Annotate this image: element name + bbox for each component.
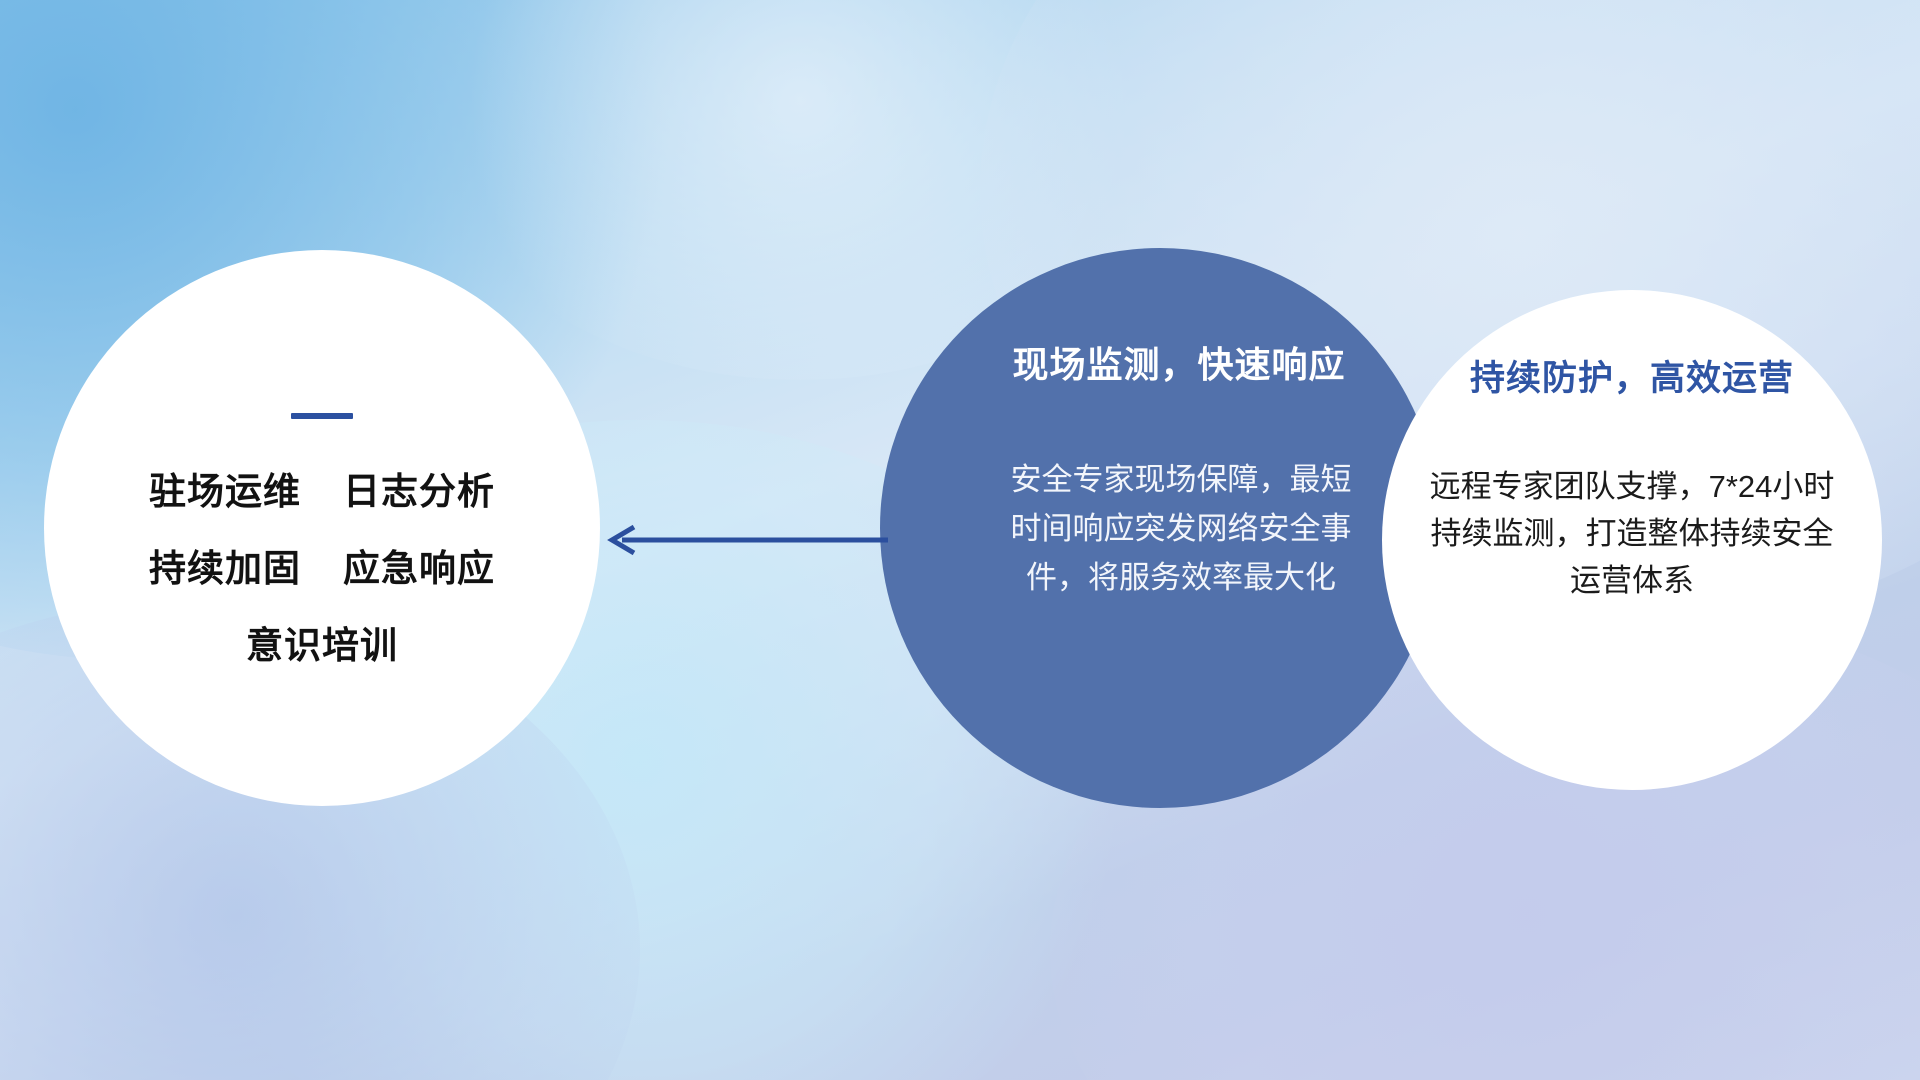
slide-canvas: 驻场运维 日志分析 持续加固 应急响应 意识培训 现场监测，快速响应 安全专家现…: [0, 0, 1920, 1080]
keyword-item: 驻场运维: [149, 473, 301, 510]
keyword-item: 持续加固: [149, 550, 301, 587]
keyword-row: 意识培训: [246, 627, 398, 664]
right-circle-content: 持续防护，高效运营 远程专家团队支撑，7*24小时持续监测，打造整体持续安全运营…: [1382, 290, 1882, 790]
onsite-monitoring-circle: 现场监测，快速响应 安全专家现场保障，最短时间响应突发网络安全事件，将服务效率最…: [880, 248, 1440, 808]
flow-arrow: [600, 520, 890, 560]
left-circle-content: 驻场运维 日志分析 持续加固 应急响应 意识培训: [44, 250, 600, 806]
keyword-row: 驻场运维 日志分析: [149, 473, 495, 510]
middle-circle-title: 现场监测，快速响应: [1012, 336, 1345, 388]
keyword-item: 应急响应: [343, 550, 495, 587]
middle-circle-content: 现场监测，快速响应 安全专家现场保障，最短时间响应突发网络安全事件，将服务效率最…: [880, 248, 1440, 808]
arrow-left-icon: [600, 520, 890, 560]
middle-circle-body: 安全专家现场保障，最短时间响应突发网络安全事件，将服务效率最大化: [1006, 456, 1356, 603]
keyword-row: 持续加固 应急响应: [149, 550, 495, 587]
continuous-operations-circle: 持续防护，高效运营 远程专家团队支撑，7*24小时持续监测，打造整体持续安全运营…: [1382, 290, 1882, 790]
right-circle-body: 远程专家团队支撑，7*24小时持续监测，打造整体持续安全运营体系: [1417, 463, 1847, 604]
accent-divider-dash: [291, 413, 353, 419]
keyword-item: 意识培训: [246, 627, 398, 664]
keyword-item: 日志分析: [343, 473, 495, 510]
right-circle-title: 持续防护，高效运营: [1470, 350, 1794, 401]
left-summary-circle: 驻场运维 日志分析 持续加固 应急响应 意识培训: [44, 250, 600, 806]
